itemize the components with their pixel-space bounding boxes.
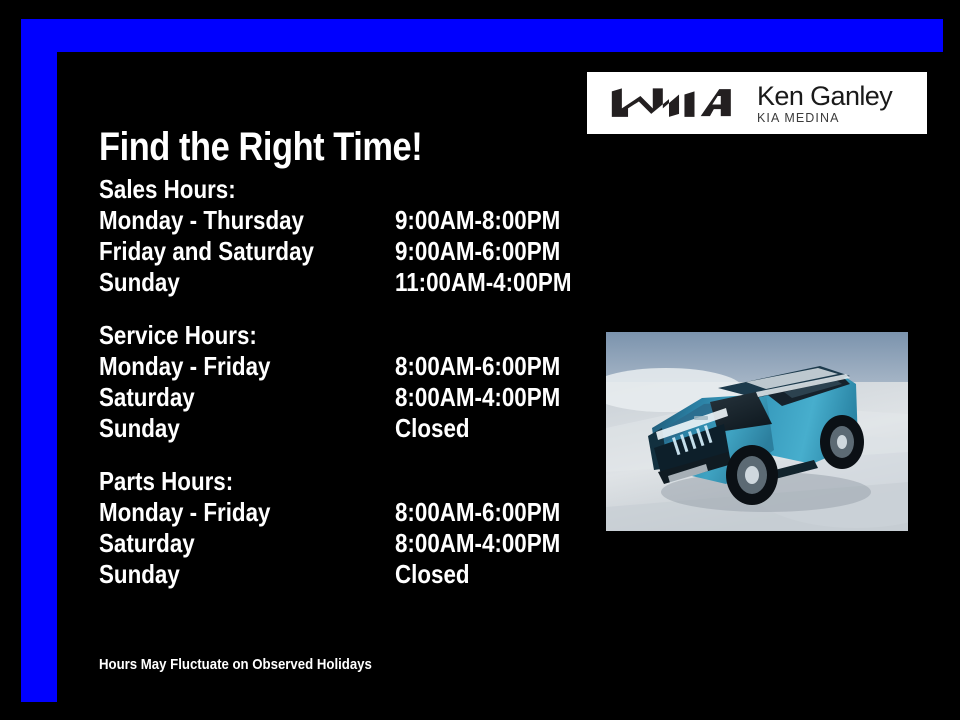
dealership-hours-slide: Find the Right Time! Sales Hours: Monday… — [0, 0, 960, 720]
section-heading: Parts Hours: — [99, 466, 512, 497]
section-heading: Service Hours: — [99, 320, 512, 351]
hours-time: 8:00AM-6:00PM — [395, 351, 560, 382]
hours-row: Monday - Thursday 9:00AM-8:00PM — [99, 205, 579, 236]
hours-time: 8:00AM-4:00PM — [395, 528, 560, 559]
hours-time: 8:00AM-6:00PM — [395, 497, 560, 528]
kia-logo-mark — [603, 86, 735, 120]
hours-time: Closed — [395, 559, 553, 590]
logo-secondary-text: KIA MEDINA — [757, 111, 892, 125]
hours-list: Sales Hours: Monday - Thursday 9:00AM-8:… — [99, 174, 579, 612]
hours-days: Saturday — [99, 528, 354, 559]
hours-days: Monday - Friday — [99, 351, 354, 382]
hours-days: Friday and Saturday — [99, 236, 354, 267]
hours-section-service: Service Hours: Monday - Friday 8:00AM-6:… — [99, 320, 579, 444]
slide-content-area: Find the Right Time! Sales Hours: Monday… — [57, 52, 949, 707]
hours-row: Sunday Closed — [99, 559, 579, 590]
hours-row: Sunday 11:00AM-4:00PM — [99, 267, 579, 298]
kia-ev9-illustration — [606, 332, 908, 531]
holiday-disclaimer: Hours May Fluctuate on Observed Holidays — [99, 656, 372, 674]
logo-wordmark: Ken Ganley KIA MEDINA — [757, 82, 892, 125]
hours-row: Saturday 8:00AM-4:00PM — [99, 528, 579, 559]
logo-primary-text: Ken Ganley — [757, 82, 892, 110]
blue-border-frame: Find the Right Time! Sales Hours: Monday… — [21, 19, 943, 702]
section-heading: Sales Hours: — [99, 174, 512, 205]
vehicle-photo — [606, 332, 908, 531]
hours-days: Sunday — [99, 413, 354, 444]
hours-row: Monday - Friday 8:00AM-6:00PM — [99, 497, 579, 528]
hours-row: Sunday Closed — [99, 413, 579, 444]
page-title: Find the Right Time! — [99, 125, 422, 169]
hours-time: 11:00AM-4:00PM — [395, 267, 571, 298]
hours-days: Sunday — [99, 267, 354, 298]
hours-days: Saturday — [99, 382, 354, 413]
hours-time: 8:00AM-4:00PM — [395, 382, 560, 413]
hours-row: Monday - Friday 8:00AM-6:00PM — [99, 351, 579, 382]
hours-section-sales: Sales Hours: Monday - Thursday 9:00AM-8:… — [99, 174, 579, 298]
dealer-logo: Ken Ganley KIA MEDINA — [587, 72, 927, 134]
hours-time: 9:00AM-8:00PM — [395, 205, 560, 236]
hours-row: Saturday 8:00AM-4:00PM — [99, 382, 579, 413]
hours-days: Monday - Thursday — [99, 205, 354, 236]
hours-section-parts: Parts Hours: Monday - Friday 8:00AM-6:00… — [99, 466, 579, 590]
hours-days: Sunday — [99, 559, 354, 590]
hours-time: 9:00AM-6:00PM — [395, 236, 560, 267]
hours-days: Monday - Friday — [99, 497, 354, 528]
hours-time: Closed — [395, 413, 553, 444]
hours-row: Friday and Saturday 9:00AM-6:00PM — [99, 236, 579, 267]
